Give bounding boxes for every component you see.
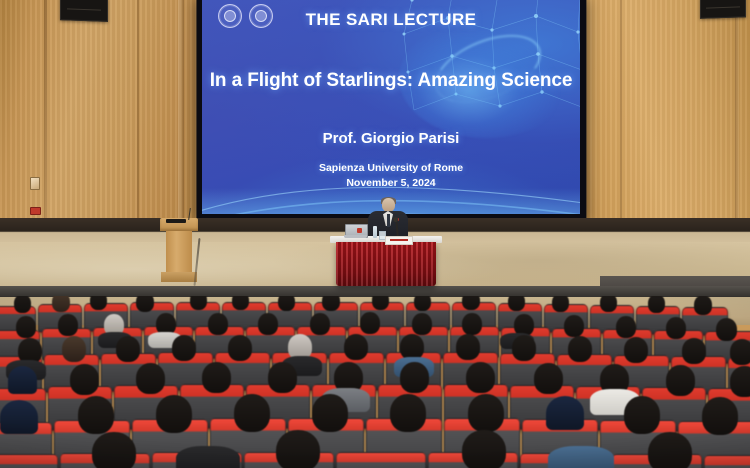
light-switch-icon[interactable] (30, 177, 40, 190)
audience-head (70, 364, 99, 395)
audience-head (228, 335, 252, 361)
water-bottle (373, 226, 377, 238)
audience-shoulders (176, 446, 240, 468)
ceiling-speaker-left-icon (60, 0, 108, 22)
audience-head (360, 312, 380, 334)
lectern-slate (166, 219, 186, 223)
audience-head (312, 394, 348, 432)
audience-head (234, 394, 270, 432)
laptop (344, 224, 367, 238)
audience-head (202, 362, 231, 393)
seat (0, 454, 58, 468)
audience-head (694, 296, 712, 315)
lecture-hall-photo: THE SARI LECTURE In a Flight of Starling… (0, 0, 750, 468)
audience-head (208, 313, 228, 335)
slide-title-text: In a Flight of Starlings: Amazing Scienc… (202, 70, 580, 92)
audience-head (58, 314, 78, 336)
audience-head (190, 296, 207, 310)
slide-speaker-text: Prof. Giorgio Parisi (202, 130, 580, 147)
audience-head (92, 432, 136, 468)
audience-head (136, 363, 165, 394)
audience-head (90, 296, 107, 310)
lectern-base (161, 272, 197, 282)
audience-head (730, 366, 750, 397)
audience-head (648, 296, 665, 313)
audience-head (508, 296, 525, 311)
audience-head (462, 296, 480, 310)
ceiling-speaker-right-icon (700, 0, 746, 19)
laptop-base (344, 235, 367, 238)
audience-head (666, 317, 686, 339)
audience-head (648, 432, 692, 468)
audience-head (702, 397, 738, 435)
audience-head (414, 296, 431, 311)
audience-head (344, 334, 368, 360)
audience-head (136, 296, 154, 312)
audience-head (310, 313, 330, 335)
audience-head (462, 430, 506, 468)
audience-head (624, 337, 648, 363)
audience-head (466, 362, 495, 393)
audience-head (534, 363, 563, 394)
audience-head (730, 339, 750, 365)
table-red-skirt (336, 242, 436, 286)
audience-head (564, 315, 584, 337)
audience-head (716, 318, 737, 341)
slide-date-text: November 5, 2024 (202, 177, 580, 189)
audience-head (258, 313, 278, 335)
audience-head (156, 395, 192, 433)
audience-head (116, 336, 140, 362)
audience-head (456, 334, 480, 360)
nameplate (385, 236, 413, 245)
audience-head (78, 396, 114, 434)
audience-seating (0, 296, 750, 468)
audience-head (512, 335, 536, 361)
audience-shoulders (548, 446, 614, 468)
presenter-tie (387, 214, 391, 227)
seat (336, 452, 426, 468)
audience-head (666, 365, 695, 396)
audience-head (372, 296, 389, 310)
audience-head-with-cap (0, 400, 38, 434)
slide-kicker-text: THE SARI LECTURE (202, 10, 580, 30)
audience-head-with-cap (546, 396, 584, 430)
audience-head (276, 430, 320, 468)
audience-head (172, 335, 196, 361)
lectern-body (166, 231, 192, 272)
audience-head (16, 316, 36, 338)
fire-alarm-icon[interactable] (30, 207, 41, 215)
audience-head (600, 296, 617, 312)
wooden-lectern (160, 218, 198, 282)
presentation-slide: THE SARI LECTURE In a Flight of Starling… (202, 0, 580, 214)
audience-head (616, 316, 636, 338)
audience-head (462, 313, 482, 335)
audience-head (232, 296, 249, 310)
seat (704, 455, 750, 468)
audience-head-with-cap (8, 366, 37, 394)
head-table (330, 236, 442, 286)
audience-head (278, 296, 295, 311)
audience-head (400, 362, 429, 393)
slide-affiliation-text: Sapienza University of Rome (202, 162, 580, 174)
audience-head (52, 296, 70, 312)
audience-head (268, 362, 297, 393)
audience-head (468, 394, 504, 432)
audience-head (552, 296, 569, 312)
audience-head (62, 336, 86, 362)
audience-head (390, 394, 426, 432)
audience-head (322, 296, 340, 311)
audience-head (682, 338, 706, 364)
presenter-head (382, 198, 395, 212)
nameplate-text-mark (390, 239, 408, 241)
audience-head (412, 313, 432, 335)
audience-head (568, 336, 592, 362)
audience-head (624, 396, 660, 434)
laptop-sticker-icon (357, 228, 362, 233)
audience-head (14, 296, 31, 313)
